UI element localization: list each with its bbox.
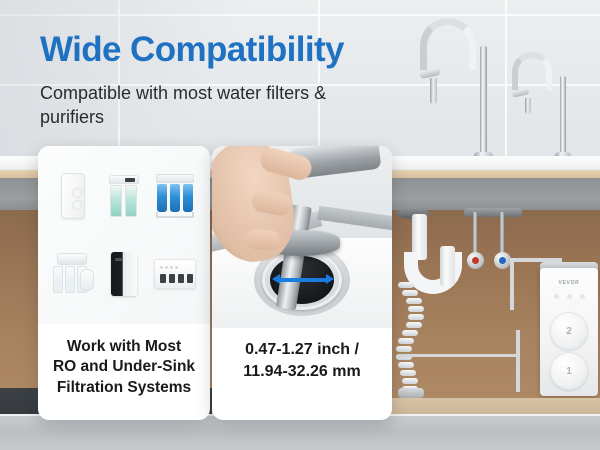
page-subtitle: Compatible with most water filters & pur… (40, 82, 370, 130)
faucet-neck (480, 46, 487, 158)
caption-line: 11.94-32.26 mm (220, 361, 384, 382)
cold-valve-cap (492, 208, 522, 217)
black-tower-purifier-icon (111, 252, 137, 296)
supply-line (398, 354, 518, 357)
trap-arm (440, 246, 455, 286)
triple-blue-canister-ro-rack-icon (156, 174, 194, 218)
supply-line (510, 258, 514, 310)
finger (245, 229, 280, 251)
caption-line: 0.47-1.27 inch / (220, 339, 384, 360)
hole-diameter-arrow-icon (272, 274, 334, 284)
product-cell-wall-mount-filter (48, 158, 97, 234)
hot-valve-knob (467, 252, 484, 269)
flexible-drain-hose (394, 282, 456, 400)
cold-valve-stem (500, 212, 504, 254)
compatibility-card: Work with Most RO and Under-Sink Filtrat… (38, 146, 210, 420)
page-title: Wide Compatibility (40, 32, 344, 67)
product-cell-multi-stage-ro (48, 236, 97, 312)
faucet-arch (512, 52, 552, 90)
hose-base (398, 388, 424, 398)
filter-unit-indicators (540, 294, 598, 299)
hot-valve-cap (464, 208, 494, 217)
hot-valve-stem (473, 212, 477, 254)
product-cell-multi-filter-box (151, 236, 200, 312)
filter-dial-1: 1 (550, 352, 588, 390)
vevor-brand-label: VEVOR (540, 280, 598, 286)
compatibility-card-caption: Work with Most RO and Under-Sink Filtrat… (38, 337, 210, 412)
hole-size-card-caption: 0.47-1.27 inch / 11.94-32.26 mm (212, 339, 392, 396)
caption-line: Work with Most (46, 337, 202, 357)
product-grid (38, 146, 210, 324)
supply-line (516, 330, 520, 392)
wall-shading (0, 0, 600, 162)
cold-valve-knob (494, 252, 511, 269)
tile-wall (0, 0, 600, 162)
faucet-arch (420, 18, 476, 70)
caption-line: RO and Under-Sink (46, 357, 202, 377)
product-cell-twin-cartridge-filter (99, 158, 148, 234)
product-cell-blue-canister-rack (151, 158, 200, 234)
gooseneck-faucet (420, 18, 498, 158)
multi-stage-ro-system-icon (53, 253, 93, 295)
vevor-filter-unit: VEVOR 2 1 (540, 268, 598, 396)
room-floor (0, 416, 600, 450)
hole-size-card: 0.47-1.27 inch / 11.94-32.26 mm (212, 146, 392, 420)
filter-products-photo (38, 146, 210, 324)
white-multi-filter-box-icon (154, 259, 196, 289)
faucet-neck (560, 76, 566, 158)
wall-mount-filter-icon (61, 173, 85, 219)
faucet-installation-photo (212, 146, 392, 328)
caption-line: Filtration Systems (46, 378, 202, 398)
faucet-spout (430, 78, 437, 104)
twin-cartridge-filter-icon (109, 175, 139, 217)
filter-dial-2: 2 (550, 312, 588, 350)
filtered-water-faucet (512, 52, 574, 158)
faucet-spout (525, 98, 531, 114)
product-feature-image: VEVOR 2 1 Wide Compatibility Compatible … (0, 0, 600, 450)
product-cell-tower-purifier (99, 236, 148, 312)
